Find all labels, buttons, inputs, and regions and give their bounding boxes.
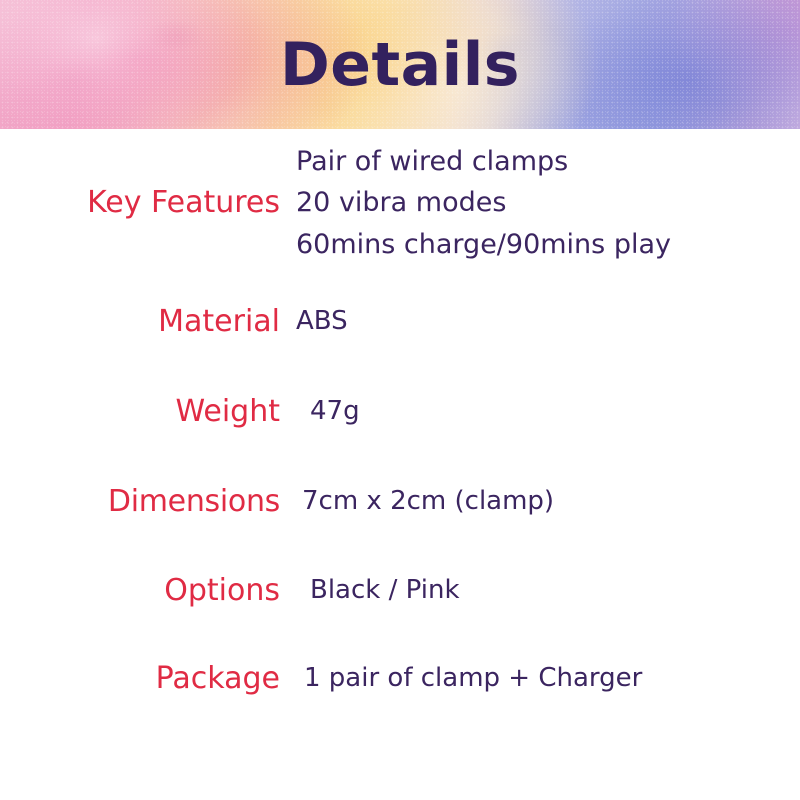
spec-value-dimensions: 7cm x 2cm (clamp) xyxy=(292,457,800,547)
table-row-key-features: Key Features Pair of wired clamps 20 vib… xyxy=(0,129,800,277)
header-banner: Details xyxy=(0,0,800,129)
spec-label-key-features: Key Features xyxy=(0,129,292,277)
spec-label-material: Material xyxy=(0,277,292,367)
spec-value-package: 1 pair of clamp + Charger xyxy=(292,635,800,723)
page-title: Details xyxy=(0,35,800,95)
spec-value-material: ABS xyxy=(292,277,800,367)
spec-label-options: Options xyxy=(0,547,292,635)
details-page: Details Key Features Pair of wired clamp… xyxy=(0,0,800,800)
spec-label-weight: Weight xyxy=(0,367,292,457)
spec-value-line: 7cm x 2cm (clamp) xyxy=(302,485,794,518)
table-row-weight: Weight 47g xyxy=(0,367,800,457)
spec-label-dimensions: Dimensions xyxy=(0,457,292,547)
table-row-options: Options Black / Pink xyxy=(0,547,800,635)
spec-value-line: Black / Pink xyxy=(310,574,794,607)
spec-value-line: ABS xyxy=(296,305,794,338)
spec-value-line: Pair of wired clamps xyxy=(296,141,794,182)
spec-value-line: 47g xyxy=(310,395,794,428)
spec-value-line: 60mins charge/90mins play xyxy=(296,224,794,265)
spec-value-key-features: Pair of wired clamps 20 vibra modes 60mi… xyxy=(292,129,800,277)
spec-value-line: 1 pair of clamp + Charger xyxy=(304,662,794,695)
spec-value-weight: 47g xyxy=(292,367,800,457)
specification-table: Key Features Pair of wired clamps 20 vib… xyxy=(0,129,800,723)
table-row-dimensions: Dimensions 7cm x 2cm (clamp) xyxy=(0,457,800,547)
spec-value-options: Black / Pink xyxy=(292,547,800,635)
table-row-material: Material ABS xyxy=(0,277,800,367)
spec-label-package: Package xyxy=(0,635,292,723)
spec-value-line: 20 vibra modes xyxy=(296,182,794,223)
table-row-package: Package 1 pair of clamp + Charger xyxy=(0,635,800,723)
